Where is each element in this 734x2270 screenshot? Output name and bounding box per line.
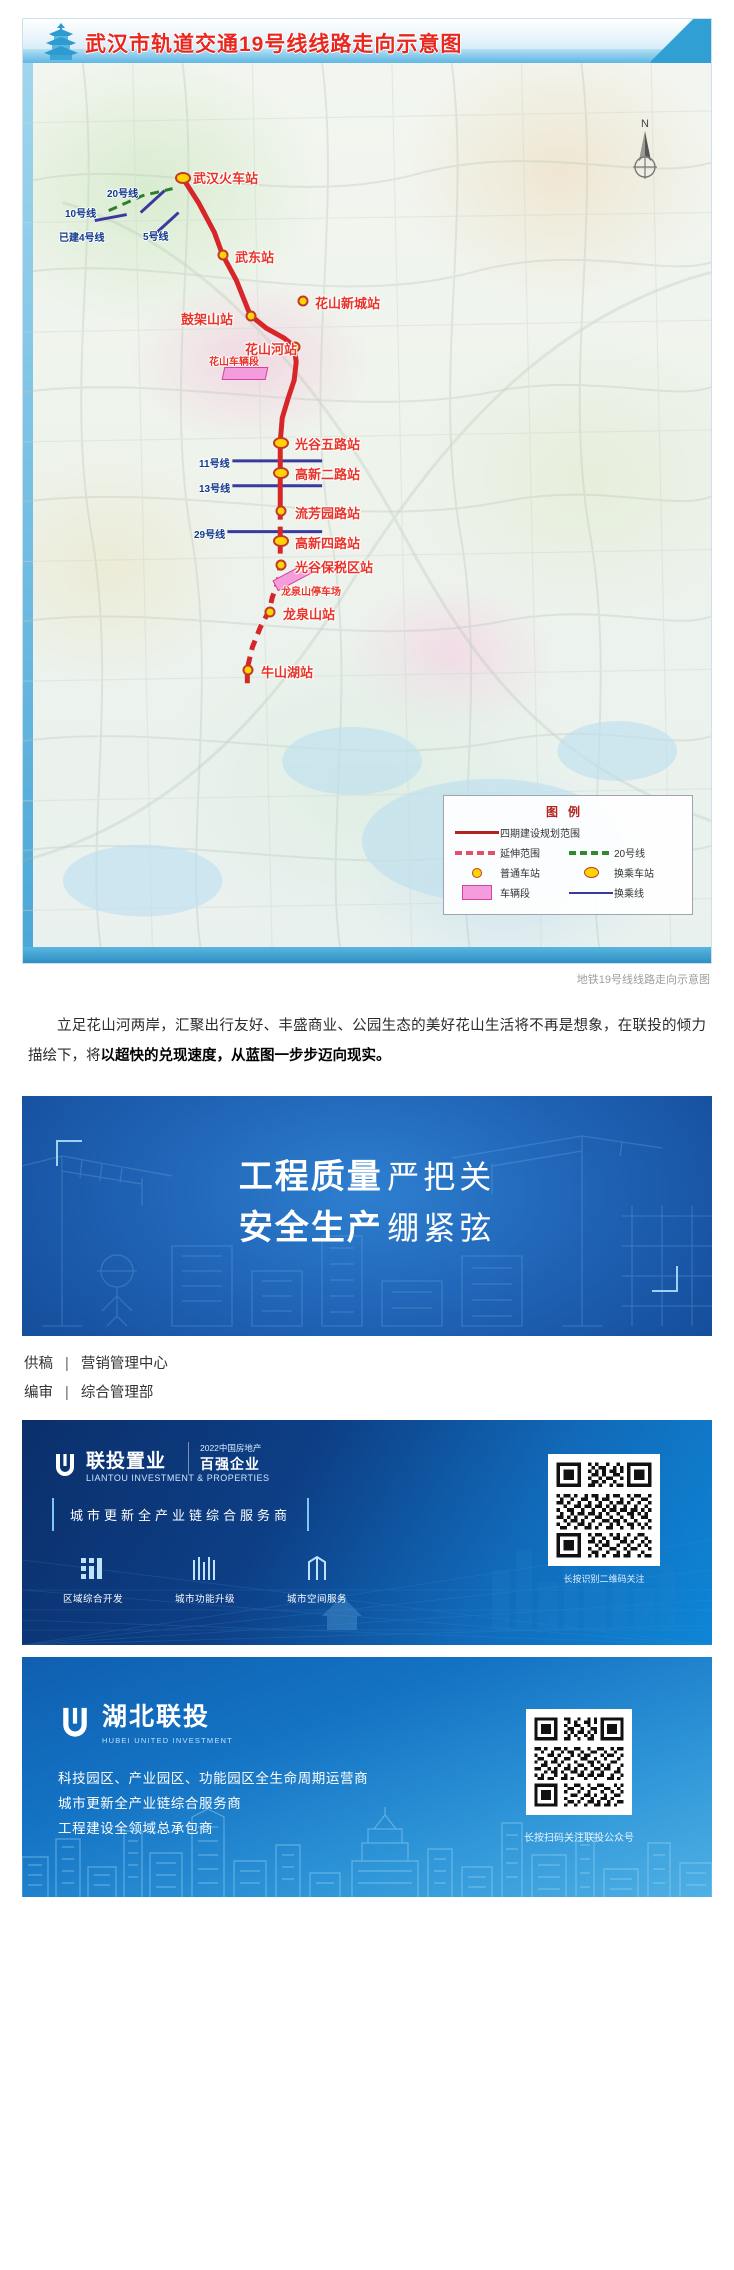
ad1-feature-item: 城市空间服务 — [276, 1550, 358, 1605]
legend-label-normal-station: 普通车站 — [500, 865, 540, 880]
line-tag-11: 11号线 — [199, 455, 230, 470]
station-label-huashan-new-town: 花山新城站 — [315, 293, 380, 312]
station-label-gaoxin-fourth-road: 高新四路站 — [295, 533, 360, 552]
station-label-longquanshan: 龙泉山站 — [283, 604, 335, 623]
credit-label-editor: 编审 — [24, 1385, 53, 1401]
ad1-brand-subtitle: LIANTOU INVESTMENT & PROPERTIES — [86, 1473, 270, 1483]
metro-map-card: 武汉市轨道交通19号线线路走向示意图 — [22, 18, 712, 964]
station-dot-liufangyuan-road[interactable] — [276, 506, 287, 517]
safety-line1-strong: 工程质量 — [239, 1158, 383, 1196]
credit-label-contributor: 供稿 — [24, 1356, 53, 1372]
station-label-wudong: 武东站 — [235, 247, 274, 266]
credit-row-contributor: 供稿 | 营销管理中心 — [24, 1350, 710, 1379]
hubei-united-u-logo-icon — [58, 1704, 92, 1738]
map-banner: 武汉市轨道交通19号线线路走向示意图 — [23, 19, 711, 63]
line-tag-13: 13号线 — [199, 480, 230, 495]
banner-corner-bottom-right — [652, 1266, 678, 1292]
legend-row: 普通车站 换乘车站 — [454, 865, 682, 880]
station-label-wuhan-railway-station: 武汉火车站 — [193, 168, 258, 187]
legend-row: 延伸范围 20号线 — [454, 845, 682, 860]
station-label-guanggu-fifth-road: 光谷五路站 — [295, 434, 360, 453]
safety-line2-light: 绷紧弦 — [387, 1210, 495, 1246]
ad1-qr-caption: 长按识别二维码关注 — [538, 1572, 670, 1585]
legend-item-depot: 车辆段 — [454, 885, 568, 900]
depot-shape-huashan — [222, 367, 269, 380]
station-dot-guanggu-bonded-zone[interactable] — [276, 560, 287, 571]
map-caption: 地铁19号线线路走向示意图 — [0, 971, 710, 987]
station-dot-gujiashan[interactable] — [246, 311, 257, 322]
ad2-brand-name: 湖北联投 — [102, 1697, 233, 1733]
map-banner-title: 武汉市轨道交通19号线线路走向示意图 — [85, 28, 462, 58]
station-dot-wuhan-railway-station[interactable] — [175, 172, 191, 184]
ad1-features: 区域综合开发 城市功能升级 — [52, 1550, 358, 1605]
ad-card-hubei-united-investment[interactable]: 湖北联投 HUBEI UNITED INVESTMENT 科技园区、产业园区、功… — [22, 1657, 712, 1897]
station-label-gaoxin-second-road: 高新二路站 — [295, 464, 360, 483]
station-label-guanggu-bonded-zone: 光谷保税区站 — [295, 557, 373, 576]
ad1-badge-line2: 百强企业 — [200, 1454, 261, 1474]
ad1-feature-label: 城市功能升级 — [164, 1591, 246, 1605]
station-label-niushanhu: 牛山湖站 — [261, 662, 313, 681]
ad-card-liantou-properties[interactable]: 联投置业 LIANTOU INVESTMENT & PROPERTIES 202… — [22, 1420, 712, 1645]
body-paragraph: 立足花山河两岸，汇聚出行友好、丰盛商业、公园生态的美好花山生活将不再是想象，在联… — [28, 1011, 706, 1072]
ad2-business-lines: 科技园区、产业园区、功能园区全生命周期运营商 城市更新全产业链综合服务商 工程建… — [58, 1767, 368, 1842]
station-dot-guanggu-fifth-road[interactable] — [273, 437, 289, 449]
yellow-crane-tower-icon — [41, 21, 81, 61]
safety-line2-strong: 安全生产 — [239, 1209, 383, 1247]
ad2-business-line: 科技园区、产业园区、功能园区全生命周期运营商 — [58, 1767, 368, 1792]
credit-separator: | — [65, 1385, 69, 1401]
line-tag-10: 10号线 — [65, 205, 96, 220]
yellow-ellipse-icon — [568, 867, 614, 878]
legend-item-line-20: 20号线 — [568, 845, 682, 860]
ad2-business-line: 工程建设全领域总承包商 — [58, 1817, 368, 1842]
station-label-gujiashan: 鼓架山站 — [181, 309, 233, 328]
ad1-slogan: 城市更新全产业链综合服务商 — [52, 1498, 309, 1531]
pink-box-icon — [454, 885, 500, 900]
credit-value-contributor: 营销管理中心 — [81, 1356, 168, 1372]
svg-text:N: N — [641, 118, 649, 130]
dashed-green-line-icon — [568, 851, 614, 855]
line-tag-29: 29号线 — [194, 526, 225, 541]
station-label-huashan-river: 花山河站 — [245, 339, 297, 358]
legend-item-normal-station: 普通车站 — [454, 865, 568, 880]
map-canvas[interactable]: 花山车辆段 龙泉山停车场 N — [23, 63, 711, 963]
station-label-liufangyuan-road: 流芳园路站 — [295, 503, 360, 522]
legend-label-extension: 延伸范围 — [500, 845, 540, 860]
legend-label-interchange-station: 换乘车站 — [614, 865, 654, 880]
solid-red-line-icon — [454, 831, 500, 834]
safety-slogan-line-2: 安全生产 绷紧弦 — [22, 1203, 712, 1254]
ad1-award-badge: 2022中国房地产 百强企业 — [188, 1442, 261, 1474]
legend-item-interchange-line: 换乘线 — [568, 885, 682, 900]
ad2-logo-block: 湖北联投 HUBEI UNITED INVESTMENT — [58, 1697, 233, 1745]
ad2-business-line: 城市更新全产业链综合服务商 — [58, 1792, 368, 1817]
depot-label-longquanshan: 龙泉山停车场 — [281, 583, 341, 598]
yellow-dot-icon — [454, 868, 500, 878]
ad1-feature-item: 城市功能升级 — [164, 1550, 246, 1605]
legend-label-line-20: 20号线 — [614, 845, 645, 860]
station-dot-gaoxin-fourth-road[interactable] — [273, 535, 289, 547]
article-page: 武汉市轨道交通19号线线路走向示意图 — [0, 0, 734, 1919]
columns-icon — [164, 1550, 246, 1584]
dashed-red-line-icon — [454, 851, 500, 855]
station-dot-niushanhu[interactable] — [243, 665, 254, 676]
station-dot-gaoxin-second-road[interactable] — [273, 467, 289, 479]
qr-code-icon[interactable] — [526, 1709, 632, 1815]
safety-line1-light: 严把关 — [387, 1159, 495, 1195]
ad2-brand-english: HUBEI UNITED INVESTMENT — [102, 1736, 233, 1745]
banner-corner-top-left — [56, 1140, 82, 1166]
building-icon — [276, 1550, 358, 1584]
ad2-qr-caption: 长按扫码关注联投公众号 — [486, 1829, 672, 1844]
ad1-feature-label: 区域综合开发 — [52, 1591, 134, 1605]
legend-title: 图例 — [454, 803, 682, 820]
compass-rose-icon: N — [619, 115, 671, 187]
station-dot-huashan-new-town[interactable] — [298, 296, 309, 307]
legend-label-interchange-line: 换乘线 — [614, 885, 644, 900]
station-dot-wudong[interactable] — [218, 250, 229, 261]
legend-row: 车辆段 换乘线 — [454, 885, 682, 900]
legend-item-interchange-station: 换乘车站 — [568, 865, 682, 880]
legend-row: 四期建设规划范围 — [454, 825, 682, 840]
map-bottom-strip — [23, 947, 711, 963]
credits-block: 供稿 | 营销管理中心 编审 | 综合管理部 — [24, 1350, 710, 1408]
qr-code-icon[interactable] — [548, 1454, 660, 1566]
credit-value-editor: 综合管理部 — [81, 1385, 154, 1401]
safety-slogan-banner: 工程质量 严把关 安全生产 绷紧弦 — [22, 1096, 712, 1336]
legend-item-extension: 延伸范围 — [454, 845, 568, 860]
banner-corner-decor — [651, 19, 711, 63]
bar-blocks-icon — [52, 1550, 134, 1584]
ad1-feature-label: 城市空间服务 — [276, 1591, 358, 1605]
legend-label-depot: 车辆段 — [500, 885, 530, 900]
line-tag-built-4: 已建4号线 — [59, 229, 105, 244]
ad1-feature-item: 区域综合开发 — [52, 1550, 134, 1605]
legend-item-planning-scope: 四期建设规划范围 — [454, 825, 682, 840]
navy-line-icon — [568, 892, 614, 894]
safety-slogan-text: 工程质量 严把关 安全生产 绷紧弦 — [22, 1152, 712, 1254]
safety-slogan-line-1: 工程质量 严把关 — [22, 1152, 712, 1203]
credit-row-editor: 编审 | 综合管理部 — [24, 1379, 710, 1408]
line-tag-20: 20号线 — [107, 185, 138, 200]
legend-label-planning-scope: 四期建设规划范围 — [500, 825, 580, 840]
station-dot-longquanshan[interactable] — [265, 607, 276, 618]
line-tag-5: 5号线 — [143, 228, 169, 243]
paragraph-bold-text: 以超快的兑现速度，从蓝图一步步迈向现实。 — [101, 1048, 391, 1064]
credit-separator: | — [65, 1356, 69, 1372]
ad1-badge-line1: 2022中国房地产 — [200, 1442, 261, 1454]
lianto-u-logo-icon — [52, 1451, 78, 1477]
map-legend: 图例 四期建设规划范围 延伸范围 20号线 — [443, 795, 693, 915]
